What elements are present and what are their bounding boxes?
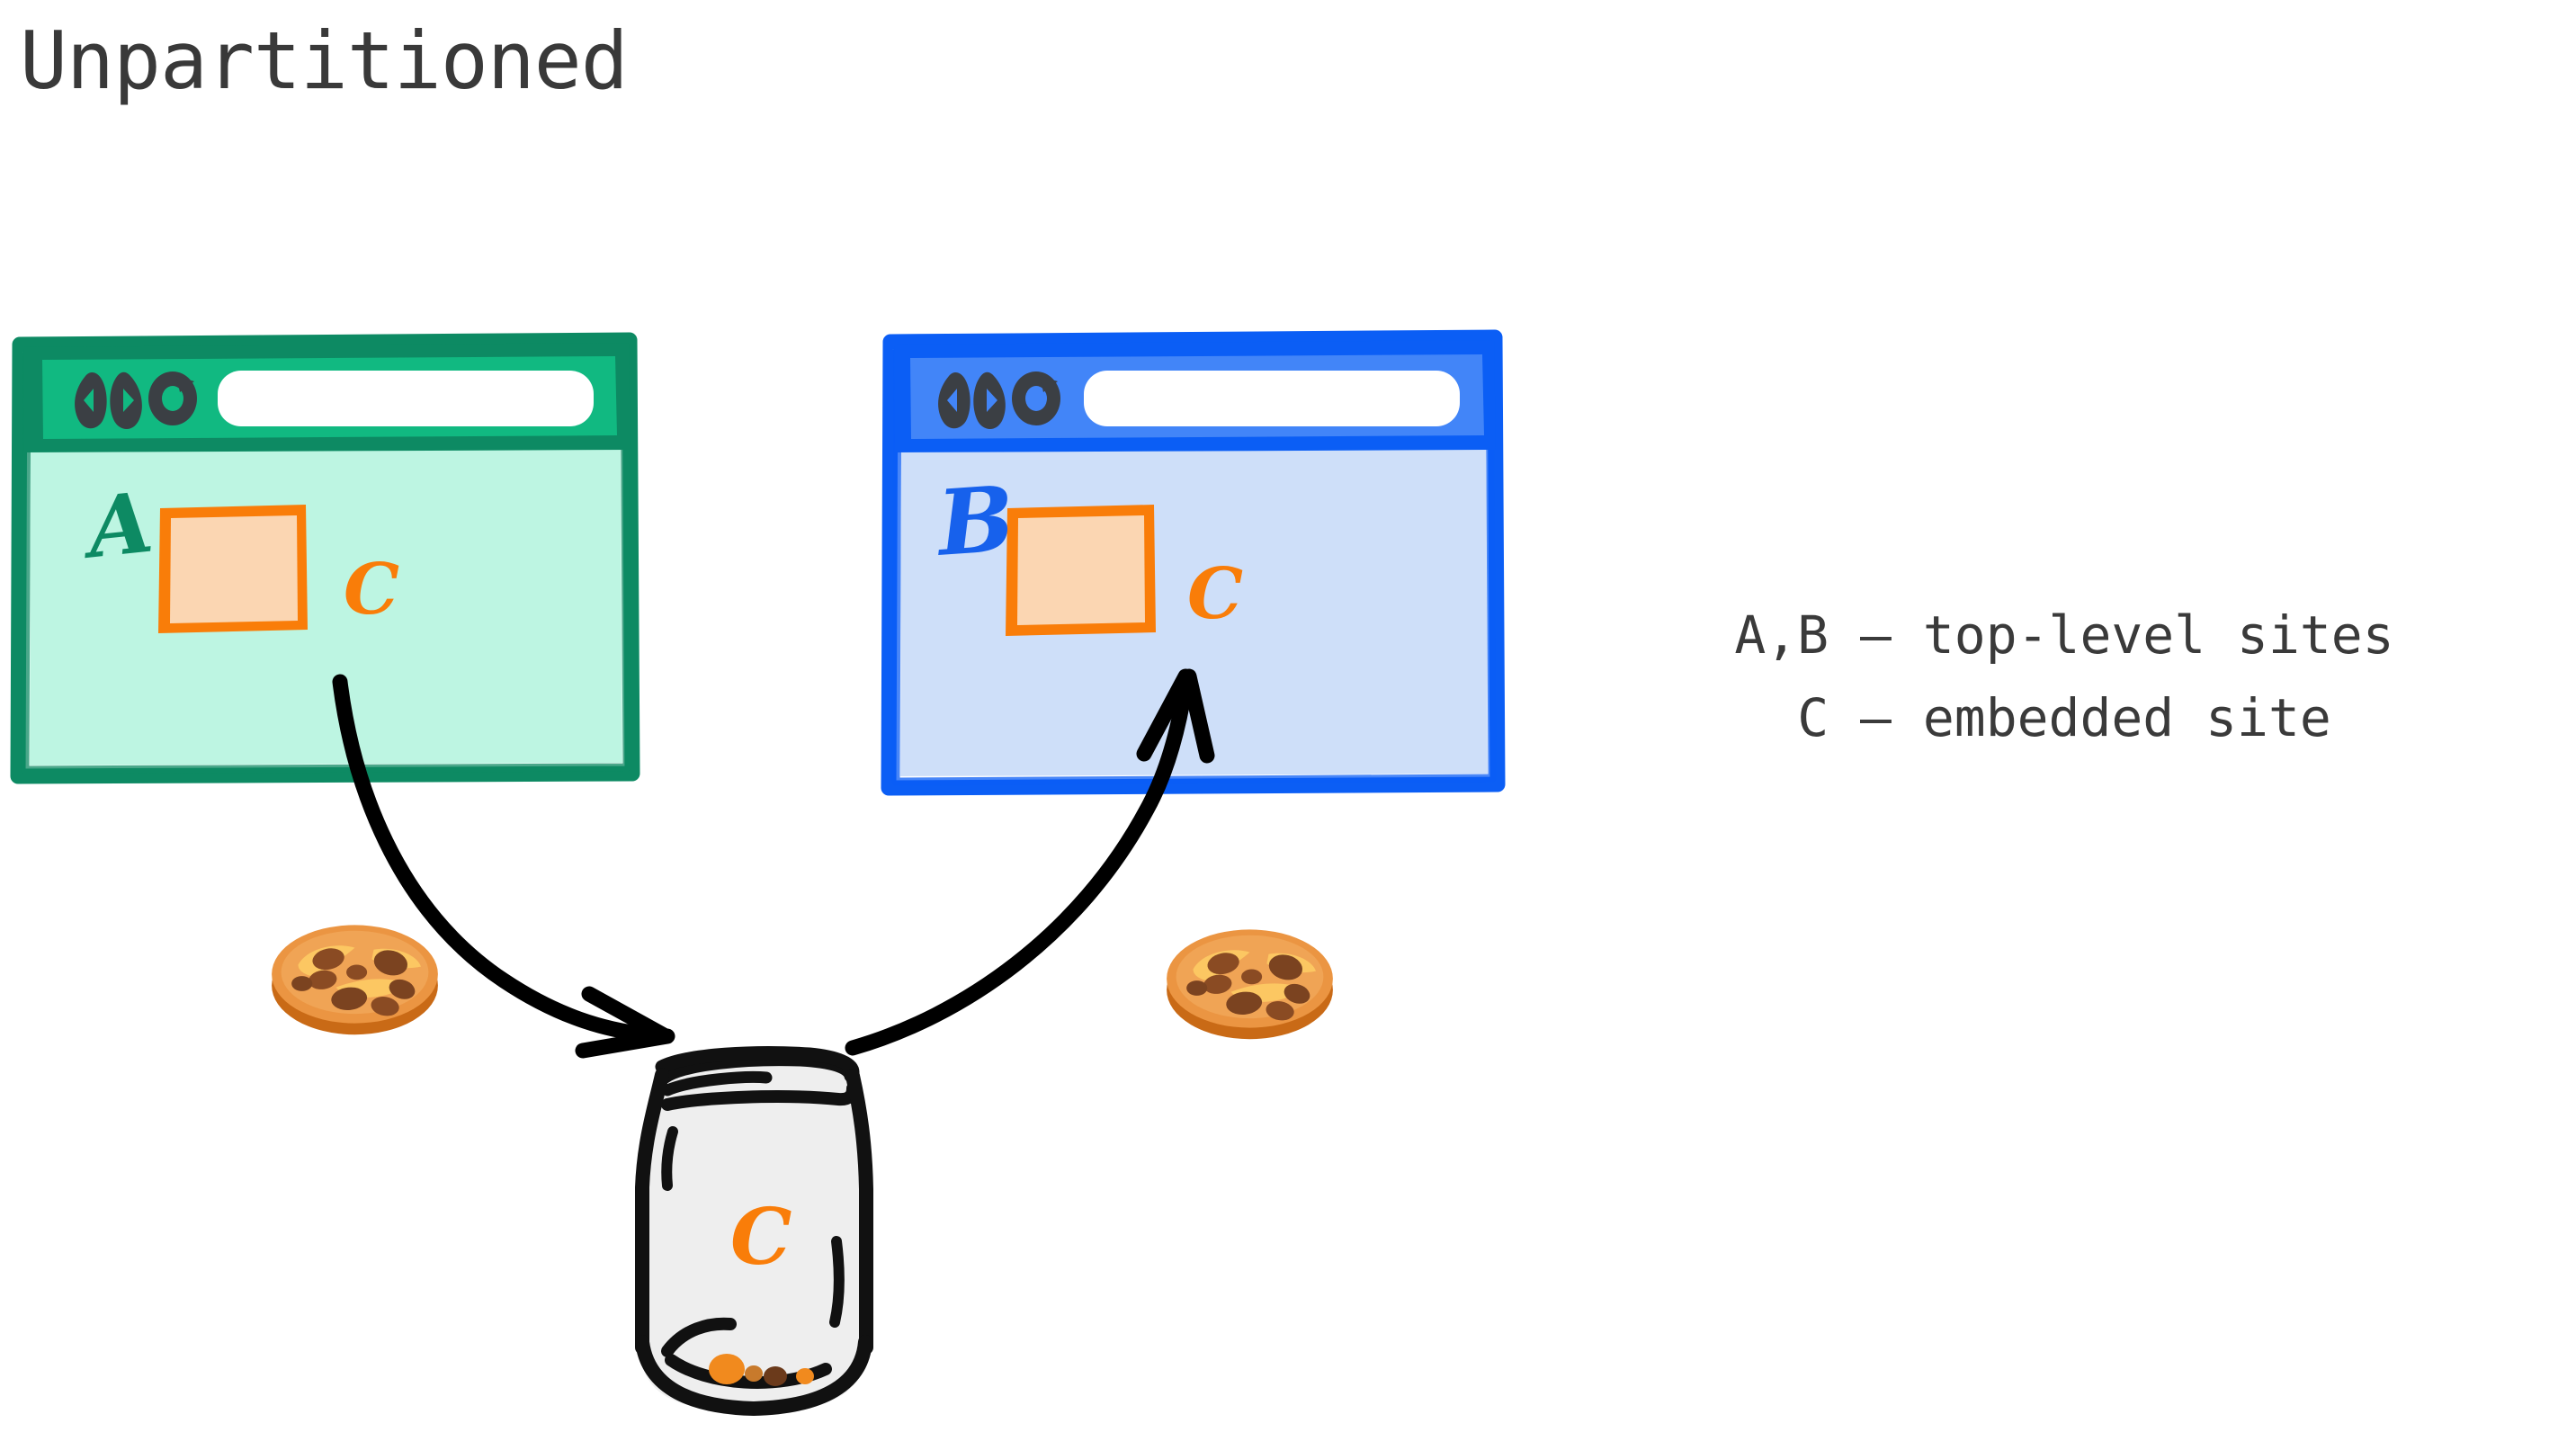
cookie-left (272, 925, 438, 1034)
jar-highlight-right (835, 1241, 839, 1322)
jar-label: C (730, 1192, 792, 1283)
embedded-box-a-fill (170, 515, 298, 623)
diagram-canvas: Unpartitioned A,B — top-level sites C — … (0, 0, 2576, 1450)
url-bar-a[interactable] (218, 371, 594, 426)
legend: A,B — top-level sites C — embedded site (1570, 594, 2559, 759)
cookie-right (1167, 929, 1333, 1039)
browser-window-a[interactable] (18, 340, 632, 776)
crumb-orange-tiny (796, 1368, 814, 1384)
page-title: Unpartitioned (20, 7, 628, 115)
crumb-orange-small (745, 1365, 763, 1382)
legend-line-top-level: A,B — top-level sites (1570, 594, 2559, 676)
crumb-orange-large (709, 1354, 745, 1384)
embedded-label-a: C (344, 549, 399, 631)
embedded-label-b: C (1187, 553, 1243, 635)
window-a-body (30, 447, 622, 765)
embedded-box-b-fill (1017, 515, 1145, 625)
jar-highlight-left (666, 1132, 673, 1186)
legend-line-embedded: C — embedded site (1570, 676, 2559, 759)
arrowhead-lower (583, 1036, 667, 1051)
url-bar-b[interactable] (1084, 371, 1460, 426)
crumb-brown (764, 1366, 787, 1386)
